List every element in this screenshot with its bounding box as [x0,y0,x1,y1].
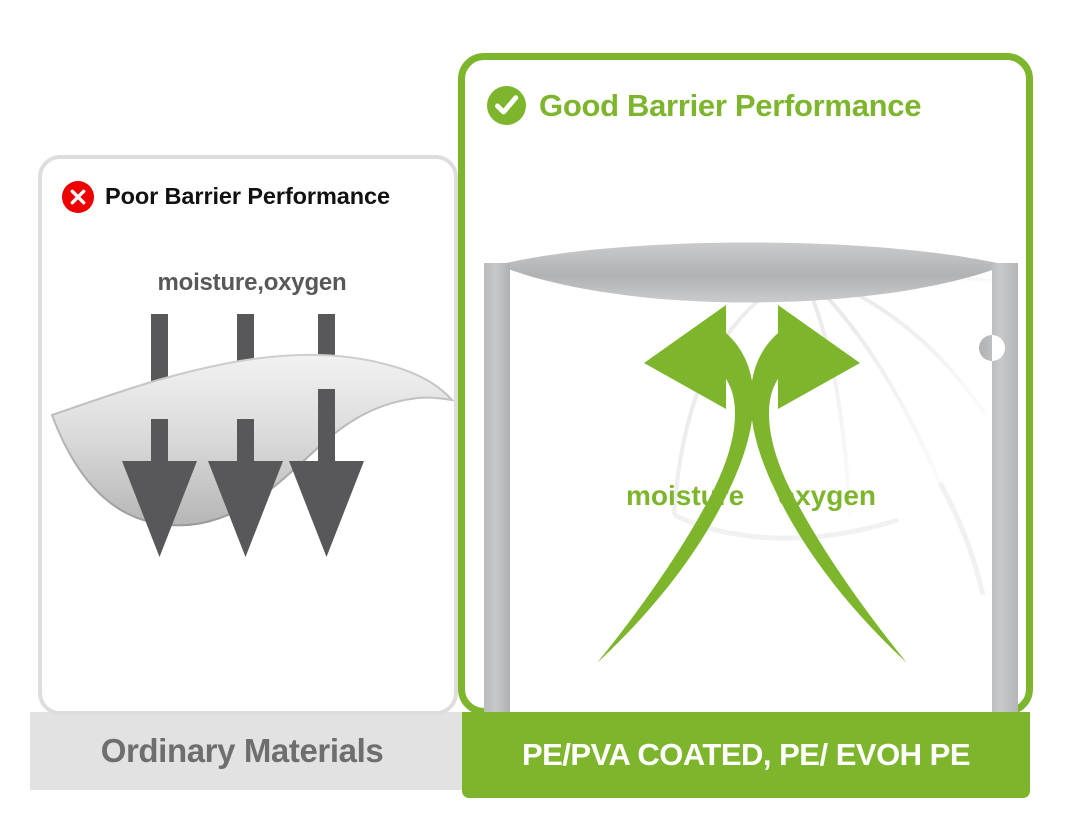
poor-barrier-header: Poor Barrier Performance [62,181,390,213]
permeation-illustration: moisture,oxygen [50,269,454,629]
poor-barrier-title: Poor Barrier Performance [105,185,390,209]
pouch-illustration: moisture oxygen [478,215,1026,715]
permeation-arrows-and-membrane [50,269,454,629]
ordinary-materials-panel: Poor Barrier Performance moisture,oxygen [38,155,458,715]
good-barrier-header: Good Barrier Performance [487,86,921,125]
moisture-oxygen-label: moisture,oxygen [50,269,454,297]
barrier-material-panel: Good Barrier Performance [458,53,1033,715]
x-circle-icon [62,181,94,213]
pouch-body [505,263,997,715]
barrier-material-label: PE/PVA COATED, PE/ EVOH PE [522,737,970,773]
ordinary-materials-footer: Ordinary Materials [30,712,462,790]
oxygen-arrow-label: oxygen [778,480,876,511]
infographic-root: Ordinary Materials Poor Barrier Performa… [0,0,1075,840]
ordinary-materials-label: Ordinary Materials [101,732,384,770]
pouch-left-seal [484,263,510,715]
check-circle-icon [487,86,526,125]
barrier-material-footer: PE/PVA COATED, PE/ EVOH PE [462,712,1030,798]
good-barrier-title: Good Barrier Performance [539,90,921,121]
moisture-arrow-label: moisture [626,480,744,511]
pouch-with-blocked-arrows: moisture oxygen [478,215,1026,715]
